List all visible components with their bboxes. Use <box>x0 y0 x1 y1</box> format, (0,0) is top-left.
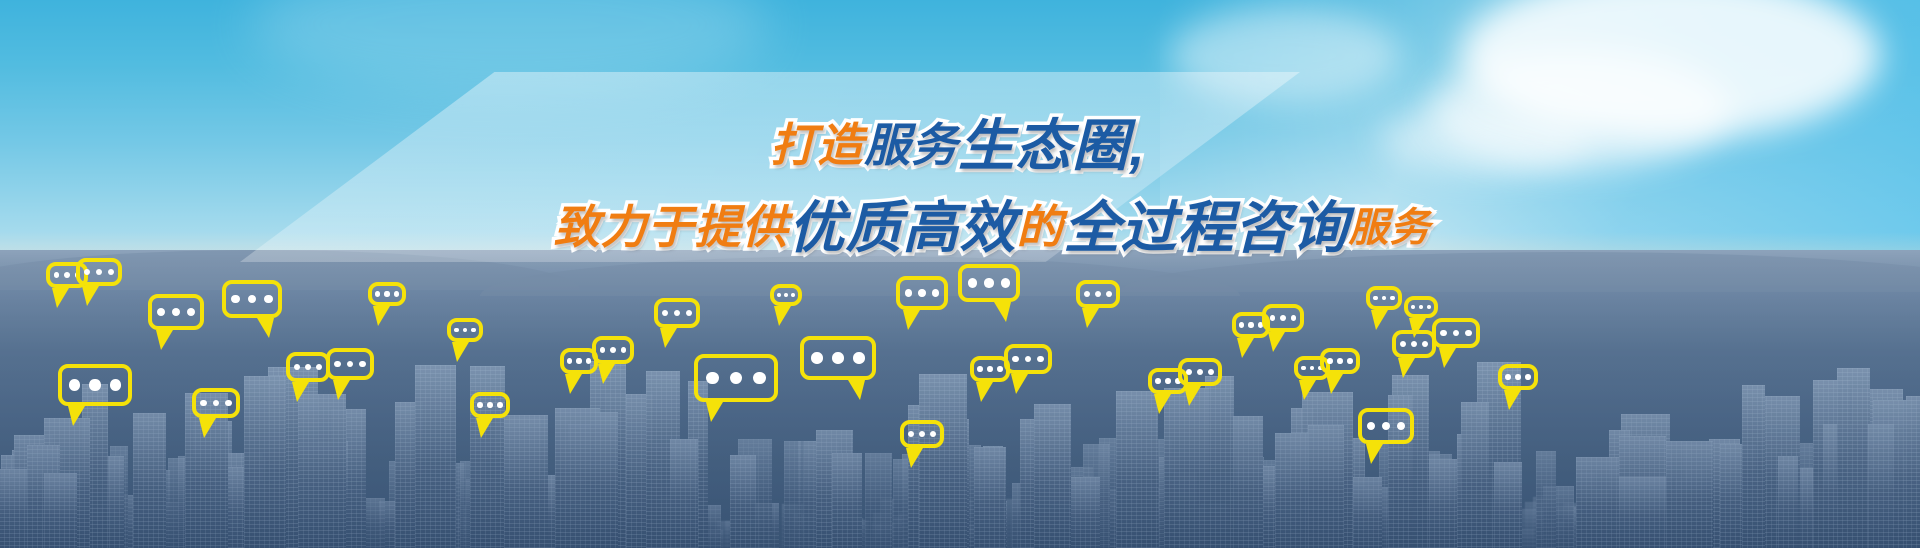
bubble-body <box>800 336 876 380</box>
bubble-body <box>1320 348 1360 374</box>
bubble-body <box>770 284 802 306</box>
headline-line-1-segment-1: 打造 <box>770 122 864 168</box>
speech-bubble-35 <box>1498 364 1538 390</box>
bubble-body <box>896 276 948 310</box>
bubble-body <box>1404 296 1438 318</box>
bubble-tail <box>1268 332 1285 352</box>
bubble-tail <box>774 306 791 326</box>
bubble-tail <box>156 330 173 350</box>
bubble-tail <box>52 288 69 308</box>
headline-line-2-segment-3: 的 <box>1017 204 1064 250</box>
bubble-tail <box>1439 348 1456 368</box>
speech-bubble-19 <box>958 264 1020 302</box>
bubble-body <box>1498 364 1538 390</box>
speech-bubble-22 <box>1004 344 1052 374</box>
bubble-tail <box>1184 386 1201 406</box>
bubble-tail <box>199 418 216 438</box>
bubble-tail <box>1011 374 1028 394</box>
headline-line-2-segment-5: 服务 <box>1349 208 1431 248</box>
bubble-tail <box>452 342 469 362</box>
speech-bubble-11 <box>470 392 510 418</box>
speech-bubble-30 <box>1358 408 1414 444</box>
speech-bubble-29 <box>1320 348 1360 374</box>
bubble-body <box>592 336 634 364</box>
bubble-tail <box>476 418 493 438</box>
headline-line-1-segment-3: 生态圈, <box>958 118 1146 174</box>
speech-bubble-25 <box>1178 358 1222 386</box>
bubble-tail <box>1409 318 1426 338</box>
bubble-tail <box>1154 394 1171 414</box>
bubble-tail <box>82 286 99 306</box>
bubble-body <box>470 392 510 418</box>
bubble-tail <box>1398 358 1415 378</box>
speech-bubble-27 <box>1262 304 1304 332</box>
bubble-tail <box>292 382 309 402</box>
bubble-tail <box>257 318 274 338</box>
bubble-tail <box>660 328 677 348</box>
speech-bubble-32 <box>1432 318 1480 348</box>
headline: 打造服务生态圈, 致力于提供优质高效的全过程咨询服务 <box>0 118 1920 256</box>
headline-line-2-segment-2: 优质高效 <box>789 200 1017 256</box>
bubble-tail <box>1371 310 1388 330</box>
bubble-body <box>654 298 700 328</box>
headline-line-2: 致力于提供优质高效的全过程咨询服务 <box>64 200 1920 256</box>
bubble-body <box>1432 318 1480 348</box>
speech-bubble-2 <box>76 258 122 286</box>
bubble-tail <box>976 382 993 402</box>
bubble-tail <box>1082 308 1099 328</box>
speech-bubble-33 <box>1366 286 1402 310</box>
bubble-body <box>76 258 122 286</box>
speech-bubble-9 <box>368 282 406 306</box>
bubble-tail <box>565 374 582 394</box>
speech-bubble-20 <box>900 420 944 448</box>
speech-bubble-7 <box>286 352 330 382</box>
headline-line-1: 打造服务生态圈, <box>0 118 1920 174</box>
speech-bubble-8 <box>326 348 374 380</box>
bubble-tail <box>706 402 723 422</box>
bubble-tail <box>1299 380 1316 400</box>
bubble-tail <box>373 306 390 326</box>
bubble-tail <box>848 380 865 400</box>
speech-bubble-15 <box>694 354 778 402</box>
bubble-body <box>1358 408 1414 444</box>
bubble-body <box>958 264 1020 302</box>
bubble-body <box>1366 286 1402 310</box>
bubble-tail <box>994 302 1011 322</box>
bubble-body <box>900 420 944 448</box>
bubble-tail <box>1504 390 1521 410</box>
headline-line-2-segment-4: 全过程咨询 <box>1064 200 1349 256</box>
speech-bubble-16 <box>800 336 876 380</box>
speech-bubble-13 <box>592 336 634 364</box>
bubble-body <box>368 282 406 306</box>
speech-bubble-4 <box>222 280 282 318</box>
speech-bubble-34 <box>1404 296 1438 318</box>
banner-hero: 打造服务生态圈, 致力于提供优质高效的全过程咨询服务 <box>0 0 1920 548</box>
bubble-tail <box>68 406 85 426</box>
speech-bubble-18 <box>896 276 948 310</box>
bubble-body <box>1262 304 1304 332</box>
headline-line-2-segment-1: 致力于提供 <box>554 204 789 250</box>
speech-bubble-17 <box>770 284 802 306</box>
bubble-tail <box>906 448 923 468</box>
speech-bubble-14 <box>654 298 700 328</box>
bubble-tail <box>1237 338 1254 358</box>
bubble-body <box>694 354 778 402</box>
headline-line-1-segment-2: 服务 <box>864 122 958 168</box>
bubble-tail <box>333 380 350 400</box>
cloud-4 <box>1170 8 1400 103</box>
bubble-body <box>326 348 374 380</box>
bubble-body <box>192 388 240 418</box>
bubble-body <box>1004 344 1052 374</box>
speech-bubble-10 <box>447 318 483 342</box>
bubble-tail <box>1326 374 1343 394</box>
speech-bubble-5 <box>58 364 132 406</box>
speech-bubble-3 <box>148 294 204 330</box>
bubble-tail <box>1366 444 1383 464</box>
bubble-tail <box>598 364 615 384</box>
bubble-body <box>1178 358 1222 386</box>
bubble-tail <box>903 310 920 330</box>
bubble-body <box>1076 280 1120 308</box>
bubble-body <box>447 318 483 342</box>
speech-bubble-23 <box>1076 280 1120 308</box>
bubble-body <box>286 352 330 382</box>
bubble-body <box>222 280 282 318</box>
bubble-body <box>148 294 204 330</box>
bubble-body <box>58 364 132 406</box>
speech-bubble-6 <box>192 388 240 418</box>
